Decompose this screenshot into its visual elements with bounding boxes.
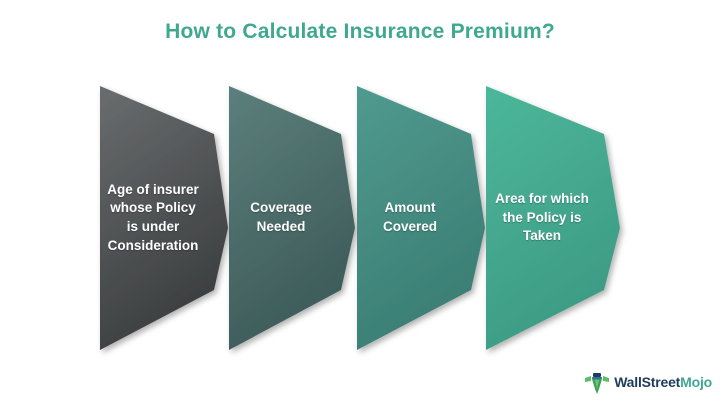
page-title: How to Calculate Insurance Premium? <box>0 20 720 44</box>
chevron-shape-2 <box>225 78 355 358</box>
process-step-3[interactable]: Amount Covered <box>353 78 485 358</box>
chevron-shape-4 <box>482 78 620 358</box>
chevron-shape-3 <box>353 78 485 358</box>
process-chevron-row: Age of insurer whose Policy is under Con… <box>0 78 720 363</box>
logo-primary-text: WallStreet <box>614 374 680 390</box>
logo-wordmark: WallStreetMojo <box>614 374 712 390</box>
process-step-4[interactable]: Area for which the Policy is Taken <box>482 78 620 358</box>
wallstreetmojo-bull-icon <box>584 369 610 395</box>
process-step-1[interactable]: Age of insurer whose Policy is under Con… <box>96 78 228 358</box>
wallstreetmojo-logo[interactable]: WallStreetMojo <box>584 368 712 396</box>
logo-accent-text: Mojo <box>680 374 712 390</box>
chevron-shape-1 <box>96 78 228 358</box>
process-step-2[interactable]: Coverage Needed <box>225 78 355 358</box>
infographic-canvas: How to Calculate Insurance Premium? <box>0 0 720 404</box>
